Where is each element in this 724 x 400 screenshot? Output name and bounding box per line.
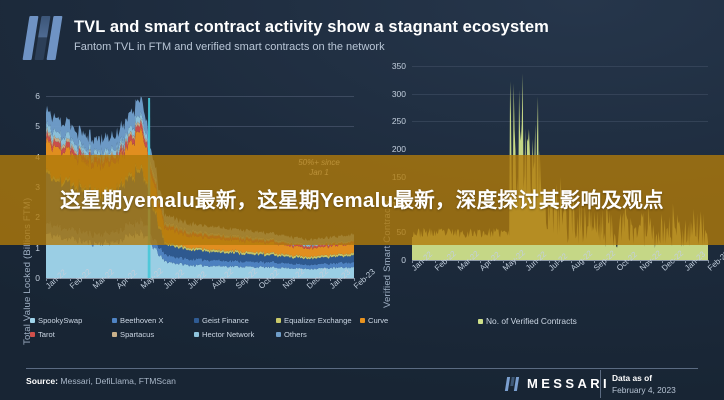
legend-swatch bbox=[276, 318, 281, 323]
legend-swatch bbox=[194, 318, 199, 323]
legend-swatch bbox=[276, 332, 281, 337]
messari-logo-icon bbox=[506, 377, 521, 391]
data-as-of-value: February 4, 2023 bbox=[612, 384, 676, 396]
footer-vertical-divider bbox=[600, 370, 601, 398]
tvl-legend-item[interactable]: Geist Finance bbox=[194, 316, 249, 325]
legend-label: No. of Verified Contracts bbox=[486, 316, 577, 326]
infographic-canvas: TVL and smart contract activity show a s… bbox=[0, 0, 724, 400]
contracts-ytick: 350 bbox=[384, 61, 406, 71]
page-title: TVL and smart contract activity show a s… bbox=[74, 18, 549, 37]
legend-swatch bbox=[112, 318, 117, 323]
legend-label: Geist Finance bbox=[202, 316, 249, 325]
legend-swatch bbox=[478, 319, 483, 324]
legend-label: Others bbox=[284, 330, 307, 339]
legend-swatch bbox=[30, 318, 35, 323]
tvl-legend-item[interactable]: Others bbox=[276, 330, 307, 339]
legend-label: Spartacus bbox=[120, 330, 154, 339]
legend-label: SpookySwap bbox=[38, 316, 82, 325]
legend-label: Hector Network bbox=[202, 330, 254, 339]
contracts-ytick: 300 bbox=[384, 89, 406, 99]
legend-swatch bbox=[30, 332, 35, 337]
legend-swatch bbox=[112, 332, 117, 337]
messari-brand: MESSARI bbox=[506, 376, 610, 391]
source-value: Messari, DefiLlama, FTMScan bbox=[60, 376, 176, 386]
legend-swatch bbox=[360, 318, 365, 323]
legend-label: Beethoven X bbox=[120, 316, 164, 325]
tvl-legend-item[interactable]: Hector Network bbox=[194, 330, 254, 339]
tvl-legend-item[interactable]: SpookySwap bbox=[30, 316, 82, 325]
contracts-ytick: 250 bbox=[384, 116, 406, 126]
legend-label: Equalizer Exchange bbox=[284, 316, 352, 325]
tvl-ytick: 0 bbox=[18, 273, 40, 283]
tvl-legend-item[interactable]: Tarot bbox=[30, 330, 55, 339]
tvl-ytick: 5 bbox=[18, 121, 40, 131]
tvl-legend-item[interactable]: Beethoven X bbox=[112, 316, 164, 325]
contracts-ytick: 200 bbox=[384, 144, 406, 154]
tvl-legend: SpookySwapBeethoven XGeist FinanceEquali… bbox=[30, 316, 360, 342]
page-subtitle: Fantom TVL in FTM and verified smart con… bbox=[74, 41, 385, 53]
source-credit: Source: Messari, DefiLlama, FTMScan bbox=[26, 376, 176, 386]
legend-label: Tarot bbox=[38, 330, 55, 339]
header: TVL and smart contract activity show a s… bbox=[0, 0, 724, 66]
overlay-headline: 这星期yemalu最新，这星期Yemalu最新，深度探讨其影响及观点 bbox=[0, 158, 724, 242]
source-label: Source: bbox=[26, 376, 58, 386]
contracts-legend-item[interactable]: No. of Verified Contracts bbox=[478, 316, 577, 326]
footer-divider bbox=[26, 368, 698, 369]
tvl-legend-item[interactable]: Spartacus bbox=[112, 330, 154, 339]
data-as-of-label: Data as of bbox=[612, 372, 676, 384]
tvl-ytick: 6 bbox=[18, 91, 40, 101]
tvl-legend-item[interactable]: Equalizer Exchange bbox=[276, 316, 352, 325]
messari-logo-icon bbox=[26, 16, 64, 60]
brand-wordmark: MESSARI bbox=[527, 376, 610, 391]
legend-swatch bbox=[194, 332, 199, 337]
data-as-of: Data as of February 4, 2023 bbox=[612, 372, 676, 396]
contracts-legend: No. of Verified Contracts bbox=[478, 316, 708, 330]
contracts-ytick: 0 bbox=[384, 255, 406, 265]
